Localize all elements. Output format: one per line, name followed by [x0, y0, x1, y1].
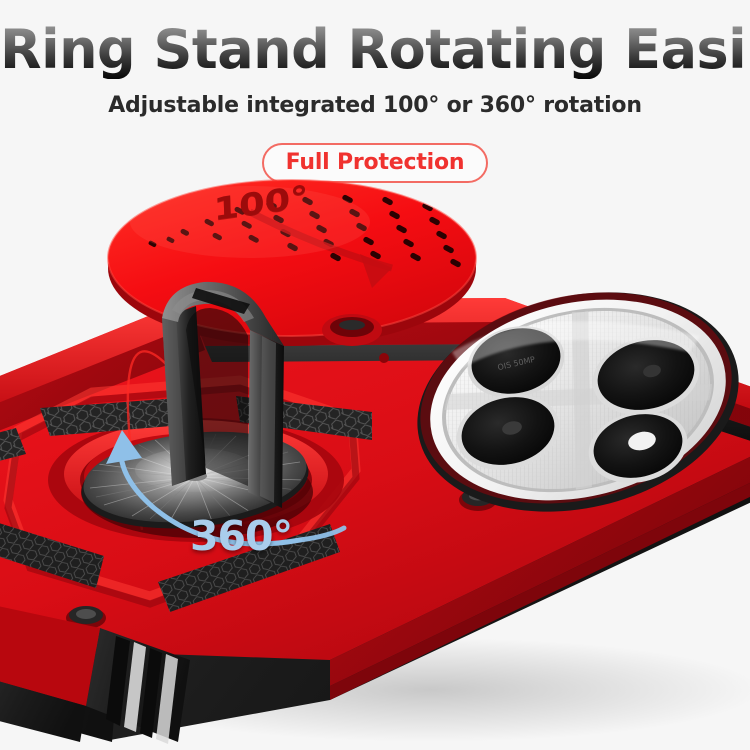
bracket-right-leg-hi — [260, 336, 276, 503]
plate-dot — [379, 353, 389, 363]
plate-mount-nub — [322, 314, 382, 346]
product-marketing-banner: Ring Stand Rotating Easily Adjustable in… — [0, 0, 750, 750]
product-illustration: OIS 50MP — [0, 0, 750, 750]
